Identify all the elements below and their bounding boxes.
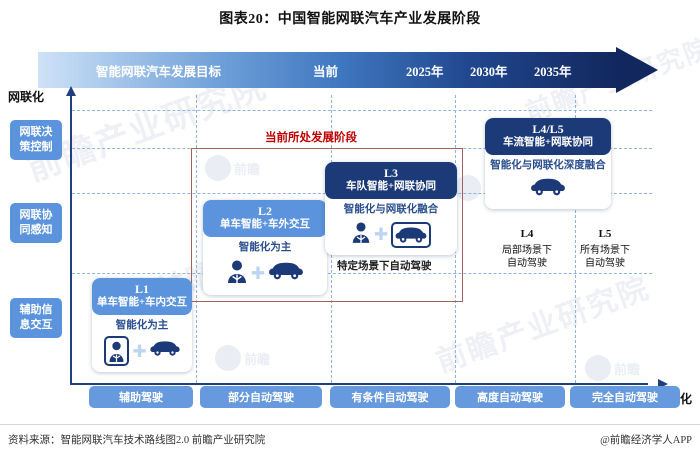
car-icon	[530, 176, 566, 203]
level-card-l4l5[interactable]: L4/L5 车流智能+网联协同 智能化与网联化深度融合	[485, 118, 611, 209]
level-title: L2	[203, 204, 327, 218]
level-icons: ✚	[325, 220, 457, 249]
y-category-wanglian-xietong: 网联协同感知	[10, 203, 62, 243]
timeline-year-2025: 2025年	[406, 61, 444, 80]
y-category-line1: 网联决	[20, 126, 53, 138]
y-category-line1: 辅助信	[20, 304, 53, 316]
stage-chip-conditional[interactable]: 有条件自动驾驶	[330, 386, 450, 408]
level-icons: ✚	[203, 258, 327, 289]
y-category-line2: 息交互	[20, 319, 53, 331]
person-boxed-icon	[104, 336, 129, 366]
level-note-l3: 特定场景下自动驾驶	[337, 258, 432, 273]
level-card-header: L1 单车智能+车内交互	[92, 278, 192, 315]
y-axis-line	[70, 95, 72, 383]
level-card-header: L3 车队智能+网联协同	[325, 162, 457, 199]
sub-caption-title: L4	[484, 228, 570, 240]
y-category-fuzhu-xinxi: 辅助信息交互	[10, 298, 62, 338]
level-card-l1[interactable]: L1 单车智能+车内交互 智能化为主 ✚	[92, 278, 192, 372]
stage-chip-high[interactable]: 高度自动驾驶	[455, 386, 565, 408]
stage-chip-partial[interactable]: 部分自动驾驶	[200, 386, 322, 408]
sub-caption-l5: L5 所有场景下自动驾驶	[562, 228, 648, 270]
sub-caption-l4: L4 局部场景下自动驾驶	[484, 228, 570, 270]
level-card-body: 智能化为主 ✚	[92, 315, 192, 372]
level-subtitle: 单车智能+车外交互	[203, 218, 327, 232]
car-icon	[268, 260, 304, 287]
car-boxed-icon	[391, 222, 431, 248]
plus-icon: ✚	[374, 226, 388, 243]
timeline-year-2030: 2030年	[470, 61, 508, 80]
level-desc: 智能化为主	[203, 241, 327, 255]
level-icons: ✚	[92, 336, 192, 366]
level-card-body: 智能化与网联化深度融合	[485, 155, 611, 209]
level-card-l3[interactable]: L3 车队智能+网联协同 智能化与网联化融合 ✚	[325, 162, 457, 255]
level-title: L3	[325, 166, 457, 180]
level-icons	[485, 176, 611, 203]
car-icon	[150, 339, 180, 363]
level-title: L1	[92, 282, 192, 296]
timeline-goal-label: 智能网联汽车发展目标	[96, 61, 221, 80]
current-stage-label: 当前所处发展阶段	[265, 129, 357, 145]
x-axis-line	[70, 383, 648, 385]
level-subtitle: 车流智能+网联协同	[485, 136, 611, 150]
sub-caption-desc: 局部场景下自动驾驶	[484, 244, 570, 270]
person-icon	[351, 220, 371, 249]
y-axis-label: 网联化	[8, 88, 44, 105]
footer-app: @前瞻经济学人APP	[600, 432, 692, 447]
level-card-l2[interactable]: L2 单车智能+车外交互 智能化为主 ✚	[203, 200, 327, 295]
level-subtitle: 车队智能+网联协同	[325, 180, 457, 194]
y-category-line2: 策控制	[20, 141, 53, 153]
timeline-year-2035: 2035年	[534, 61, 572, 80]
stage-chip-full[interactable]: 完全自动驾驶	[570, 386, 680, 408]
level-card-body: 智能化为主 ✚	[203, 237, 327, 295]
footer-source: 资料来源：智能网联汽车技术路线图2.0 前瞻产业研究院	[8, 432, 265, 447]
page-title: 图表20：中国智能网联汽车产业发展阶段	[0, 8, 700, 28]
level-card-body: 智能化与网联化融合 ✚	[325, 199, 457, 255]
level-desc: 智能化与网联化融合	[325, 203, 457, 217]
plus-icon: ✚	[251, 265, 265, 282]
level-title: L4/L5	[485, 122, 611, 136]
level-subtitle: 单车智能+车内交互	[92, 296, 192, 310]
level-card-header: L2 单车智能+车外交互	[203, 200, 327, 237]
sub-caption-title: L5	[562, 228, 648, 240]
footer-divider	[0, 424, 700, 425]
timeline-arrowhead-icon	[616, 47, 658, 93]
y-category-line2: 同感知	[20, 224, 53, 236]
timeline-current-label: 当前	[313, 61, 338, 80]
gridline-horizontal	[72, 110, 652, 111]
plus-icon: ✚	[132, 343, 146, 360]
level-card-header: L4/L5 车流智能+网联协同	[485, 118, 611, 155]
timeline-arrow: 智能网联汽车发展目标 当前 2025年 2030年 2035年	[38, 52, 658, 88]
y-category-line1: 网联协	[20, 209, 53, 221]
level-desc: 智能化为主	[92, 319, 192, 333]
y-category-wanglian-juece: 网联决策控制	[10, 120, 62, 160]
level-desc: 智能化与网联化深度融合	[485, 159, 611, 173]
stage-chip-assisted[interactable]: 辅助驾驶	[89, 386, 193, 408]
person-icon	[226, 258, 248, 289]
sub-caption-desc: 所有场景下自动驾驶	[562, 244, 648, 270]
y-axis-arrowhead-icon	[66, 86, 76, 96]
